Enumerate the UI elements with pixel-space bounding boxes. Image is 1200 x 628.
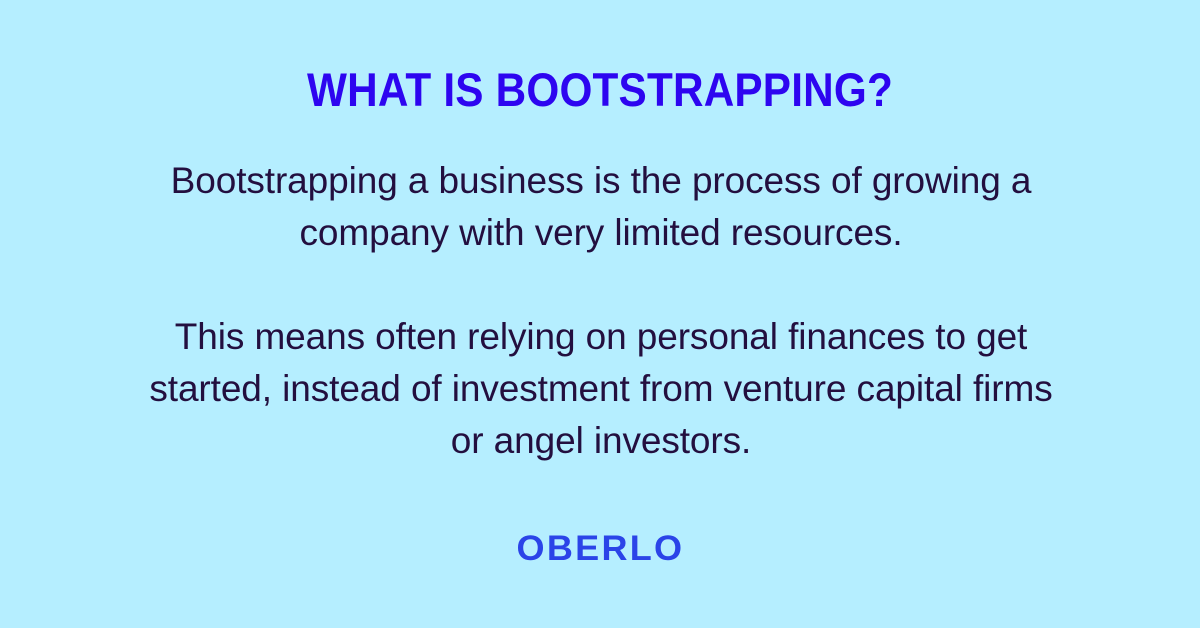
body-paragraph-2: This means often relying on personal fin… [145, 311, 1057, 467]
paragraph-spacer [145, 259, 1057, 311]
infographic-card: WHAT IS BOOTSTRAPPING? Bootstrapping a b… [0, 0, 1200, 628]
brand-logo: OBERLO [0, 529, 1200, 569]
page-title: WHAT IS BOOTSTRAPPING? [60, 62, 1140, 118]
body-text-block: Bootstrapping a business is the process … [145, 155, 1057, 467]
brand-logo-text: OBERLO [516, 529, 684, 569]
body-paragraph-1: Bootstrapping a business is the process … [145, 155, 1057, 259]
